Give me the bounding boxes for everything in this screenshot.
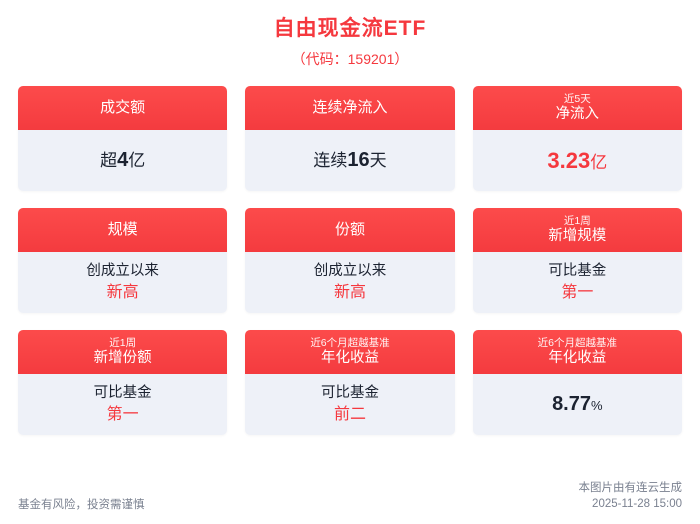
metric-suffix: % — [591, 398, 603, 413]
metric-card-header: 近1周 新增规模 — [473, 208, 682, 252]
metric-value-line1: 创成立以来 — [86, 262, 159, 280]
metric-suffix: 亿 — [128, 151, 145, 170]
metric-card-body: 可比基金 前二 — [245, 374, 454, 435]
metric-number: 4 — [117, 149, 128, 171]
page-title: 自由现金流ETF — [0, 14, 700, 44]
source-timestamp: 2025-11-28 15:00 — [579, 496, 683, 512]
metric-prefix: 超 — [100, 151, 117, 170]
metric-value-line2: 前二 — [334, 405, 366, 425]
metric-card-subtitle: 近6个月超越基准 — [538, 337, 617, 349]
source-generator: 本图片由有连云生成 — [579, 480, 683, 496]
metric-card: 近1周 新增规模 可比基金 第一 — [473, 208, 682, 313]
metric-number: 3.23 — [547, 148, 590, 173]
metric-card-subtitle: 近1周 — [109, 337, 136, 349]
metric-card-header: 成交额 — [18, 86, 227, 130]
metric-value-line2: 第一 — [561, 283, 593, 303]
metric-card-title: 份额 — [335, 221, 365, 238]
metric-card-title: 规模 — [108, 221, 138, 238]
metric-card-body: 可比基金 第一 — [18, 374, 227, 435]
metric-card: 近6个月超越基准 年化收益 8.77% — [473, 330, 682, 435]
metric-card-body: 超4亿 — [18, 130, 227, 191]
metric-card-header: 近1周 新增份额 — [18, 330, 227, 374]
metric-value: 超4亿 — [100, 148, 145, 173]
metric-value-line2: 新高 — [107, 283, 139, 303]
metric-suffix: 亿 — [590, 153, 607, 172]
page-header: 自由现金流ETF （代码：159201） — [0, 0, 700, 72]
metric-card-title: 连续净流入 — [312, 99, 387, 116]
metric-card-header: 近6个月超越基准 年化收益 — [245, 330, 454, 374]
metric-number: 16 — [347, 149, 369, 171]
metric-value-line2: 第一 — [107, 405, 139, 425]
metric-value: 连续16天 — [313, 148, 386, 173]
metric-prefix: 连续 — [313, 151, 347, 170]
fund-code: （代码：159201） — [0, 46, 700, 72]
metric-card-body: 8.77% — [473, 374, 682, 435]
metric-card-subtitle: 近5天 — [564, 93, 591, 105]
metric-card-header: 近6个月超越基准 年化收益 — [473, 330, 682, 374]
metric-card: 份额 创成立以来 新高 — [245, 208, 454, 313]
metric-card-title: 年化收益 — [321, 350, 379, 367]
metric-card-grid: 成交额 超4亿 连续净流入 连续16天 近5天 净流入 — [18, 86, 682, 435]
metric-value-line1: 可比基金 — [321, 384, 379, 402]
metric-card-title: 成交额 — [100, 99, 145, 116]
metric-card-body: 创成立以来 新高 — [245, 252, 454, 313]
metric-card: 近5天 净流入 3.23亿 — [473, 86, 682, 191]
metric-card: 成交额 超4亿 — [18, 86, 227, 191]
metric-card-subtitle: 近6个月超越基准 — [310, 337, 389, 349]
metric-card-header: 近5天 净流入 — [473, 86, 682, 130]
metric-value: 8.77% — [552, 392, 603, 417]
metric-value-line1: 可比基金 — [94, 384, 152, 402]
metric-card-title: 新增份额 — [94, 350, 152, 367]
risk-disclaimer: 基金有风险，投资需谨慎 — [18, 496, 145, 512]
metric-card-title: 净流入 — [556, 106, 600, 123]
metric-card-title: 年化收益 — [548, 350, 606, 367]
metric-suffix: 天 — [370, 151, 387, 170]
metric-value-line1: 创成立以来 — [314, 262, 387, 280]
metric-card-header: 规模 — [18, 208, 227, 252]
metric-number: 8.77 — [552, 393, 591, 415]
metric-card-body: 可比基金 第一 — [473, 252, 682, 313]
metric-card-subtitle: 近1周 — [564, 215, 591, 227]
metric-value: 3.23亿 — [547, 147, 607, 175]
page-footer: 基金有风险，投资需谨慎 本图片由有连云生成 2025-11-28 15:00 — [18, 480, 682, 512]
metric-value-line1: 可比基金 — [548, 262, 606, 280]
metric-value-line2: 新高 — [334, 283, 366, 303]
metric-card: 连续净流入 连续16天 — [245, 86, 454, 191]
infographic-page: 自由现金流ETF （代码：159201） 成交额 超4亿 连续净流入 连续16天 — [0, 0, 700, 524]
metric-card-body: 创成立以来 新高 — [18, 252, 227, 313]
metric-card-header: 连续净流入 — [245, 86, 454, 130]
source-info: 本图片由有连云生成 2025-11-28 15:00 — [579, 480, 683, 512]
metric-card: 近1周 新增份额 可比基金 第一 — [18, 330, 227, 435]
metric-card-title: 新增规模 — [548, 228, 606, 245]
metric-card: 规模 创成立以来 新高 — [18, 208, 227, 313]
metric-card-body: 连续16天 — [245, 130, 454, 191]
metric-card-header: 份额 — [245, 208, 454, 252]
metric-card: 近6个月超越基准 年化收益 可比基金 前二 — [245, 330, 454, 435]
metric-card-body: 3.23亿 — [473, 130, 682, 191]
